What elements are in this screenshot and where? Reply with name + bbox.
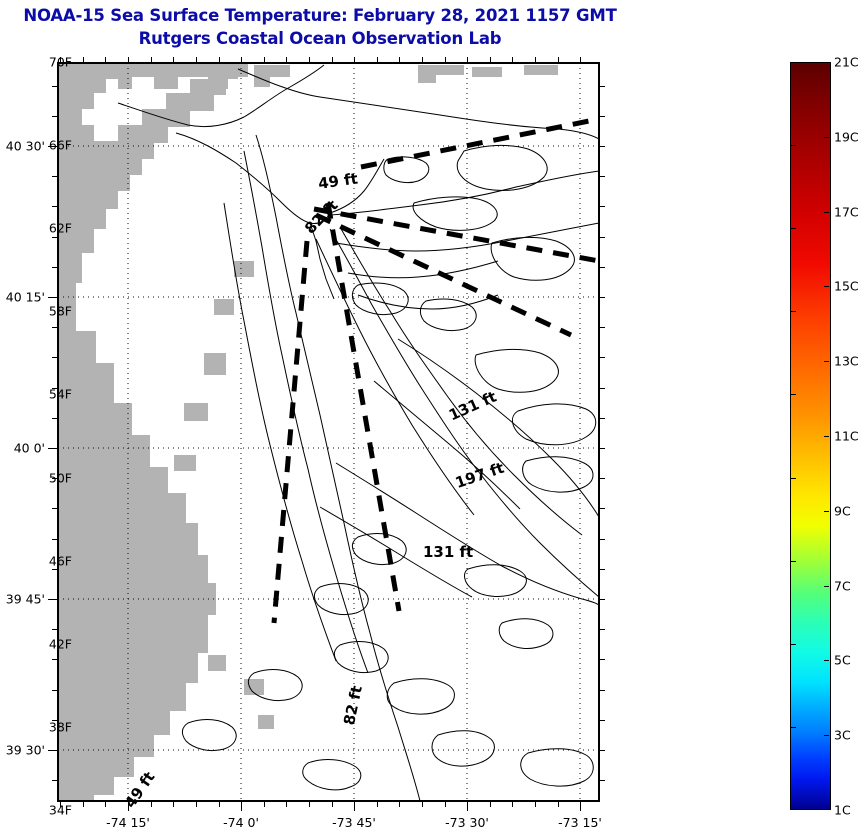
y-axis-tick [48,297,57,298]
colorbar-label-celsius: 9C [834,504,851,519]
x-axis-minor-tick-top [377,57,378,62]
x-axis-minor-tick-top [219,57,220,62]
colorbar-label-celsius: 11C [834,429,859,444]
colorbar-tick-fahrenheit [791,478,796,479]
y-axis-minor-tick-right [600,599,605,600]
x-axis-minor-tick-top [128,57,129,62]
y-axis-minor-tick [52,659,57,660]
x-axis-minor-tick [309,802,310,807]
x-axis-minor-tick-top [83,57,84,62]
x-axis-minor-tick [332,802,333,807]
colorbar-tick-celsius [824,511,829,512]
x-axis-minor-tick [151,802,152,807]
y-axis-minor-tick-right [600,508,605,509]
x-axis-minor-tick [512,802,513,807]
y-axis-minor-tick [52,237,57,238]
y-axis-minor-tick [52,690,57,691]
y-axis-label: 40 15' [0,290,45,305]
y-axis-minor-tick-right [600,659,605,660]
y-axis-minor-tick-right [600,86,605,87]
colorbar-tick-celsius [824,436,829,437]
y-axis-tick [48,750,57,751]
colorbar-label-celsius: 21C [834,55,859,70]
y-axis-minor-tick-right [600,750,605,751]
colorbar-tick-fahrenheit [791,228,796,229]
x-axis-minor-tick [399,802,400,807]
colorbar-label-celsius: 13C [834,354,859,369]
colorbar-label-celsius: 5C [834,653,851,668]
x-axis-minor-tick-top [309,57,310,62]
x-axis-minor-tick [173,802,174,807]
x-axis-minor-tick-top [445,57,446,62]
x-axis-minor-tick-top [467,57,468,62]
colorbar-label-fahrenheit: 46F [49,554,72,569]
y-axis-minor-tick-right [600,780,605,781]
x-axis-minor-tick [286,802,287,807]
x-axis-label: -73 15' [558,815,602,830]
y-axis-minor-tick-right [600,327,605,328]
y-axis-label: 40 30' [0,139,45,154]
colorbar-tick-celsius [824,286,829,287]
y-axis-minor-tick-right [600,388,605,389]
x-axis-minor-tick-top [264,57,265,62]
colorbar-tick-celsius [824,735,829,736]
x-axis-label: -73 45' [332,815,376,830]
x-axis-minor-tick-top [196,57,197,62]
x-axis-minor-tick [264,802,265,807]
y-axis-minor-tick-right [600,237,605,238]
x-axis-minor-tick-top [105,57,106,62]
colorbar-label-fahrenheit: 34F [49,803,72,818]
y-axis-minor-tick [52,176,57,177]
x-axis-label: -74 0' [223,815,259,830]
x-axis-minor-tick [535,802,536,807]
x-axis-minor-tick [377,802,378,807]
y-axis-minor-tick [52,508,57,509]
y-axis-minor-tick-right [600,297,605,298]
x-axis-tick [241,802,242,811]
y-axis-minor-tick [52,206,57,207]
colorbar-label-fahrenheit: 70F [49,55,72,70]
y-axis-minor-tick-right [600,569,605,570]
colorbar-label-fahrenheit: 38F [49,720,72,735]
colorbar-tick-fahrenheit [791,644,796,645]
y-axis-minor-tick-right [600,357,605,358]
y-axis-minor-tick [52,418,57,419]
x-axis-tick [580,802,581,811]
y-axis-minor-tick [52,86,57,87]
colorbar-tick-fahrenheit [791,727,796,728]
colorbar-label-fahrenheit: 54F [49,387,72,402]
x-axis-minor-tick-top [558,57,559,62]
colorbar-tick-fahrenheit [791,394,796,395]
x-axis-minor-tick-top [580,57,581,62]
colorbar-label-celsius: 15C [834,279,859,294]
x-axis-tick [354,802,355,811]
y-axis-minor-tick [52,267,57,268]
colorbar-tick-fahrenheit [791,145,796,146]
x-axis-tick [467,802,468,811]
page-title: NOAA-15 Sea Surface Temperature: Februar… [0,4,640,50]
x-axis-minor-tick [105,802,106,807]
title-line-2: Rutgers Coastal Ocean Observation Lab [0,27,640,50]
x-axis-minor-tick [490,802,491,807]
x-axis-minor-tick-top [173,57,174,62]
colorbar-label-celsius: 3C [834,728,851,743]
x-axis-minor-tick-top [490,57,491,62]
colorbar-tick-celsius [824,660,829,661]
y-axis-minor-tick [52,629,57,630]
title-line-1: NOAA-15 Sea Surface Temperature: Februar… [0,4,640,27]
y-axis-minor-tick [52,357,57,358]
y-axis-label: 40 0' [0,441,45,456]
colorbar-label-fahrenheit: 66F [49,138,72,153]
y-axis-label: 39 30' [0,743,45,758]
colorbar-tick-fahrenheit [791,311,796,312]
colorbar-label-fahrenheit: 42F [49,637,72,652]
y-axis-minor-tick-right [600,267,605,268]
y-axis-minor-tick-right [600,176,605,177]
y-axis-minor-tick-right [600,418,605,419]
colorbar-label-fahrenheit: 50F [49,471,72,486]
colorbar-tick-celsius [824,137,829,138]
x-axis-minor-tick-top [422,57,423,62]
y-axis-minor-tick-right [600,720,605,721]
x-axis-label: -74 15' [106,815,150,830]
x-axis-minor-tick [196,802,197,807]
colorbar-label-fahrenheit: 58F [49,304,72,319]
x-axis-minor-tick [83,802,84,807]
x-axis-minor-tick-top [535,57,536,62]
x-axis-minor-tick-top [286,57,287,62]
x-axis-minor-tick [445,802,446,807]
colorbar-tick-celsius [824,586,829,587]
x-axis-minor-tick-top [399,57,400,62]
colorbar-label-celsius: 19C [834,130,859,145]
colorbar-label-fahrenheit: 62F [49,221,72,236]
x-axis-minor-tick-top [151,57,152,62]
y-axis-minor-tick-right [600,478,605,479]
x-axis-minor-tick [558,802,559,807]
y-axis-minor-tick-right [600,146,605,147]
y-axis-minor-tick-right [600,116,605,117]
y-axis-minor-tick-right [600,448,605,449]
landmass-layer [58,63,558,801]
x-axis-minor-tick [422,802,423,807]
colorbar-tick-celsius [824,361,829,362]
y-axis-minor-tick [52,116,57,117]
x-axis-label: -73 30' [445,815,489,830]
y-axis-label: 39 45' [0,592,45,607]
colorbar-tick-fahrenheit [791,561,796,562]
y-axis-minor-tick [52,327,57,328]
x-axis-minor-tick-top [332,57,333,62]
y-axis-minor-tick-right [600,690,605,691]
x-axis-minor-tick-top [512,57,513,62]
y-axis-minor-tick-right [600,206,605,207]
depth-contour-label: 131 ft [423,543,473,561]
y-axis-minor-tick-right [600,539,605,540]
colorbar-label-celsius: 7C [834,579,851,594]
x-axis-minor-tick [219,802,220,807]
y-axis-minor-tick-right [600,629,605,630]
x-axis-minor-tick-top [241,57,242,62]
colorbar-label-celsius: 1C [834,803,851,818]
y-axis-tick [48,448,57,449]
y-axis-minor-tick [52,780,57,781]
y-axis-minor-tick [52,539,57,540]
x-axis-minor-tick-top [354,57,355,62]
y-axis-tick [48,599,57,600]
colorbar-tick-celsius [824,212,829,213]
y-axis-minor-tick [52,569,57,570]
colorbar-label-celsius: 17C [834,205,859,220]
